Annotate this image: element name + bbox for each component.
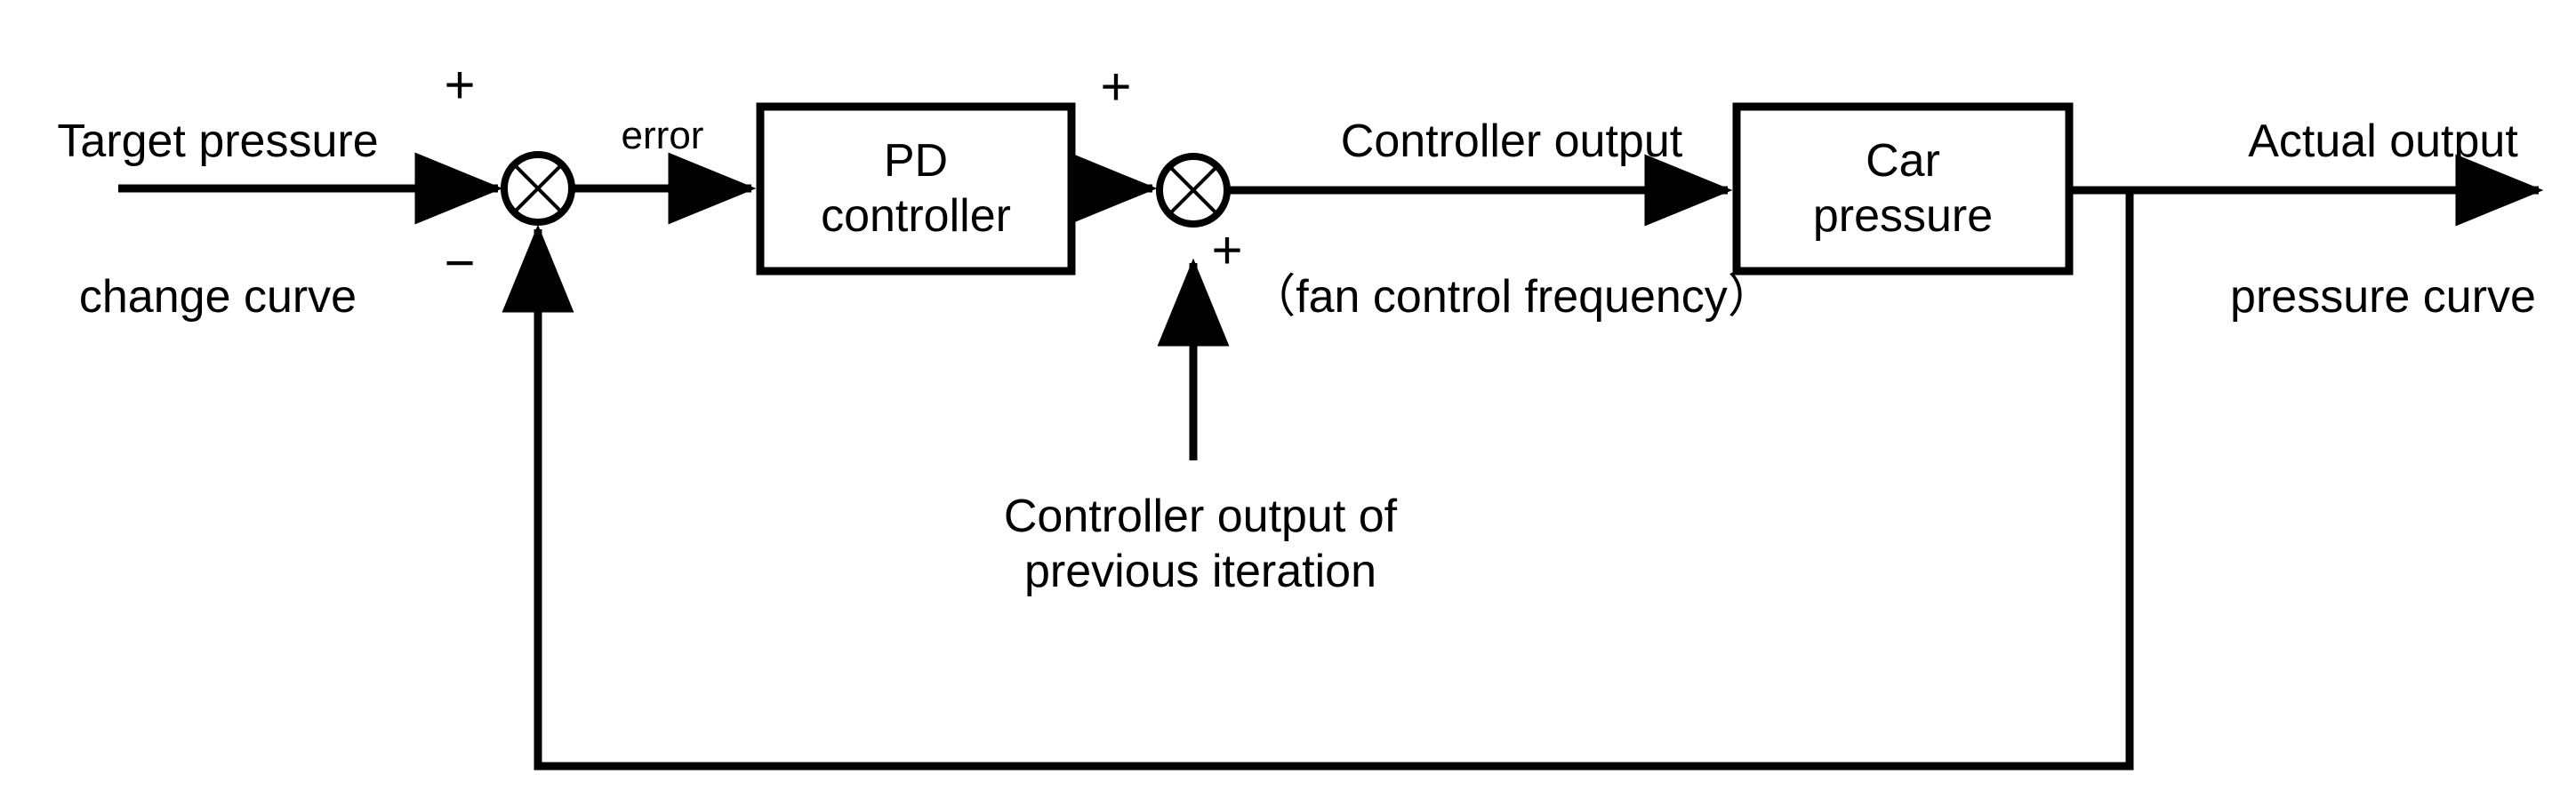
car-pressure-block bbox=[1737, 107, 2069, 271]
input-signal-label-line1: Target pressure bbox=[27, 116, 409, 167]
controller-output-label: Controller output （fan control frequency… bbox=[1245, 12, 1778, 427]
output-signal-label-line1: Actual output bbox=[2205, 116, 2561, 167]
sum-junction-2-plus-sign-top: + bbox=[1096, 57, 1136, 116]
controller-output-label-line2: （fan control frequency） bbox=[1245, 271, 1778, 323]
input-signal-label: Target pressure change curve bbox=[27, 12, 409, 427]
input-signal-label-line2: change curve bbox=[27, 271, 409, 323]
sum-junction-1-minus-sign: − bbox=[440, 233, 479, 292]
output-signal-label: Actual output pressure curve bbox=[2205, 12, 2561, 427]
error-signal-label: error bbox=[591, 114, 734, 157]
output-signal-label-line2: pressure curve bbox=[2205, 271, 2561, 323]
pd-controller-block bbox=[760, 107, 1071, 271]
sum-junction-2-plus-sign-bottom: + bbox=[1208, 220, 1247, 280]
sum-junction-1-plus-sign: + bbox=[440, 55, 479, 115]
block-diagram-canvas: Target pressure change curve + − error P… bbox=[0, 0, 2576, 791]
controller-output-label-line1: Controller output bbox=[1245, 116, 1778, 167]
